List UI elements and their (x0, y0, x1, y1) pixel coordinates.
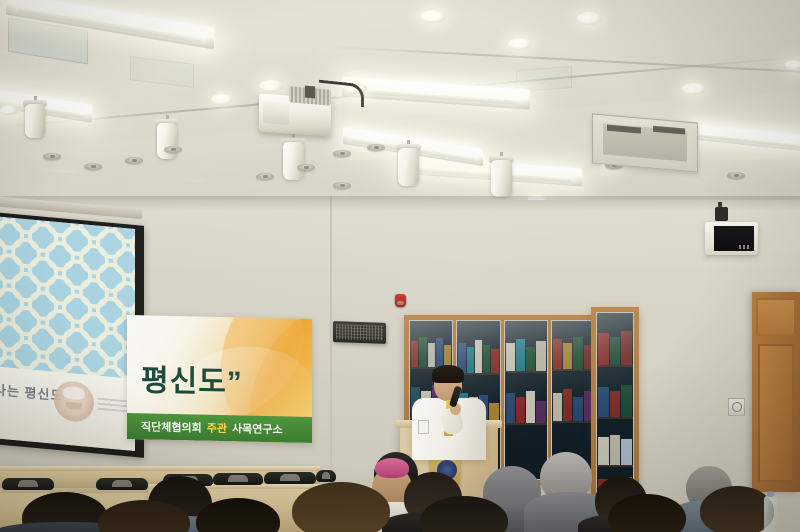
ceiling-tile-panel-right (516, 66, 572, 92)
shelf-books (597, 433, 633, 465)
wall-corner-edge (330, 196, 332, 496)
door-panel (758, 344, 794, 482)
shelf-books (505, 337, 547, 371)
shelf-line (505, 423, 547, 425)
chair-1 (2, 478, 54, 490)
shelf-books (552, 387, 594, 421)
sprinkler-3 (125, 157, 143, 164)
spotlight-4 (398, 140, 419, 186)
spotlight-can (491, 160, 512, 197)
shelf-books (505, 389, 547, 423)
projector-mount (305, 86, 315, 99)
spotlight-can (157, 123, 177, 159)
sprinkler-4 (164, 146, 182, 153)
room-door[interactable] (752, 292, 800, 492)
chair-5 (264, 472, 316, 484)
downlight-4 (420, 10, 446, 23)
downlight-13 (0, 105, 18, 115)
lecture-hall-photo: 사는 평신도 평신도” 직단체협의회 주관 사목연구소 (0, 0, 800, 532)
slide-background-pattern (0, 216, 135, 387)
ceiling-ac-cassette (592, 113, 698, 172)
banner-footer-institute: 사목연구소 (232, 420, 283, 437)
door-transom-panel (756, 298, 796, 336)
shelf-line (597, 365, 633, 367)
fire-alarm-bell-icon (395, 294, 406, 307)
downlight-6 (508, 38, 531, 50)
downlight-5 (577, 12, 602, 25)
glass-door[interactable] (504, 320, 548, 480)
downlight-7 (682, 83, 706, 95)
ceiling-projector (259, 82, 331, 138)
sprinkler-11 (367, 144, 385, 151)
speaker-grille (714, 226, 754, 251)
spotlight-can (283, 142, 304, 180)
projection-screen: 사는 평신도 (0, 212, 144, 458)
wall-speaker-white (705, 222, 758, 255)
chair-2 (96, 478, 148, 490)
sprinkler-12 (727, 172, 745, 179)
sprinkler-6 (297, 164, 315, 171)
spotlight-3 (283, 134, 304, 180)
presenter-hair (432, 365, 464, 383)
spotlight-can (398, 148, 419, 186)
shelf-line (552, 369, 594, 371)
shelf-books (410, 335, 452, 367)
glass-door[interactable] (596, 312, 634, 502)
wall-speaker-dark (333, 321, 386, 344)
ceiling-tile-panel (130, 56, 194, 88)
projector-lens (263, 101, 289, 125)
banner-title: 평신도” (141, 355, 243, 401)
zucchetto-icon (375, 458, 409, 478)
spotlight-1 (25, 96, 45, 138)
name-badge (418, 420, 429, 434)
presenter (412, 368, 486, 463)
shelf-books (552, 335, 594, 369)
desk-edge (0, 466, 320, 471)
sprinkler-2 (84, 163, 102, 170)
banner-footer-bar: 직단체협의회 주관 사목연구소 (127, 413, 312, 443)
chair-6 (316, 470, 336, 482)
banner-footer-role: 주관 (207, 420, 227, 436)
speaker-grille (336, 324, 383, 341)
projection-screen-surface: 사는 평신도 (0, 216, 135, 451)
sprinkler-9 (333, 182, 351, 189)
audience-head-front-4 (292, 482, 390, 532)
sprinkler-7 (333, 150, 351, 157)
security-camera-icon (715, 207, 728, 221)
shelf-books (597, 329, 633, 365)
shelf-books (597, 383, 633, 417)
shelf-line (597, 417, 633, 419)
event-banner: 평신도” 직단체협의회 주관 사목연구소 (127, 315, 312, 443)
banner-footer-org: 직단체협의회 (141, 418, 202, 435)
downlight-2 (211, 94, 233, 105)
sprinkler-1 (43, 153, 61, 160)
audience-head-front-7 (700, 486, 774, 532)
downlight-14 (785, 60, 800, 70)
projection-screen-frame: 사는 평신도 (0, 212, 144, 458)
water-bottle (764, 496, 777, 532)
shelf-line (597, 465, 633, 467)
shelf-line (505, 371, 547, 373)
shelf-line (552, 421, 594, 423)
bookcase-doors (596, 312, 634, 502)
spotlight-can (25, 104, 45, 138)
wall-plaque (728, 398, 745, 416)
spotlight-5 (491, 152, 512, 197)
sprinkler-5 (256, 173, 274, 180)
chair-4 (213, 473, 263, 485)
